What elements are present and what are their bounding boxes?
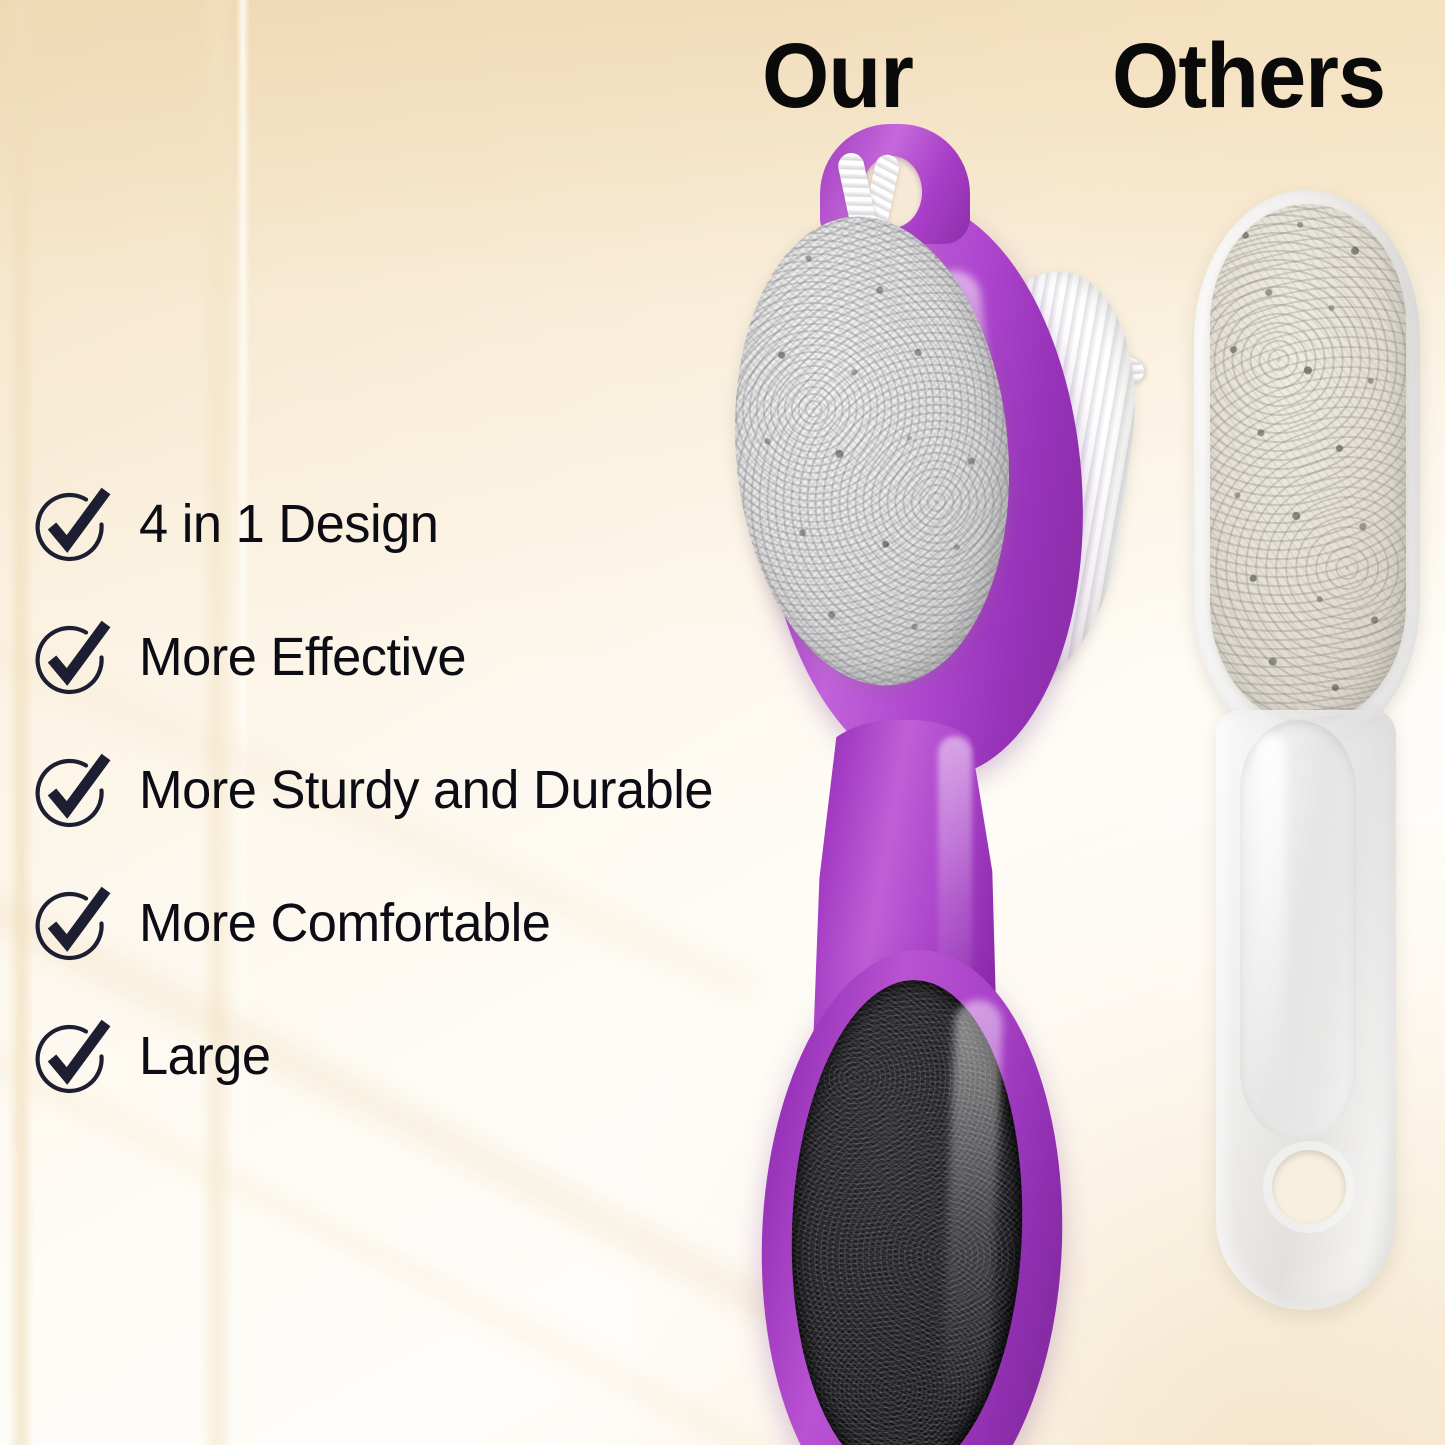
check-circle-icon [34, 756, 108, 830]
feature-list: 4 in 1 Design More Effective More Sturdy… [34, 488, 774, 1153]
our-product-image [700, 120, 1140, 1430]
heading-others: Others [1112, 30, 1385, 122]
feature-label: More Sturdy and Durable [139, 754, 713, 826]
background-vertical-band-left [8, 0, 34, 1445]
others-handle-highlight [1256, 735, 1286, 1115]
feature-label: 4 in 1 Design [139, 488, 438, 560]
check-circle-icon [34, 623, 108, 697]
check-circle-icon [34, 1022, 108, 1096]
feature-item-4-in-1-design: 4 in 1 Design [34, 488, 774, 621]
feature-item-more-sturdy-and-durable: More Sturdy and Durable [34, 754, 774, 887]
check-circle-icon [34, 889, 108, 963]
others-product-image [1182, 190, 1442, 1330]
feature-item-more-effective: More Effective [34, 621, 774, 754]
feature-label: More Comfortable [139, 887, 550, 959]
pumice-stone-others [1210, 204, 1406, 724]
comparison-infographic: Our Others 4 in 1 Design More Effective [0, 0, 1445, 1445]
check-circle-icon [34, 490, 108, 564]
feature-item-large: Large [34, 1020, 774, 1153]
feature-label: More Effective [139, 621, 466, 693]
others-hanging-hole [1272, 1150, 1346, 1224]
heading-our: Our [762, 30, 913, 122]
feature-item-more-comfortable: More Comfortable [34, 887, 774, 1020]
feature-label: Large [139, 1020, 271, 1092]
